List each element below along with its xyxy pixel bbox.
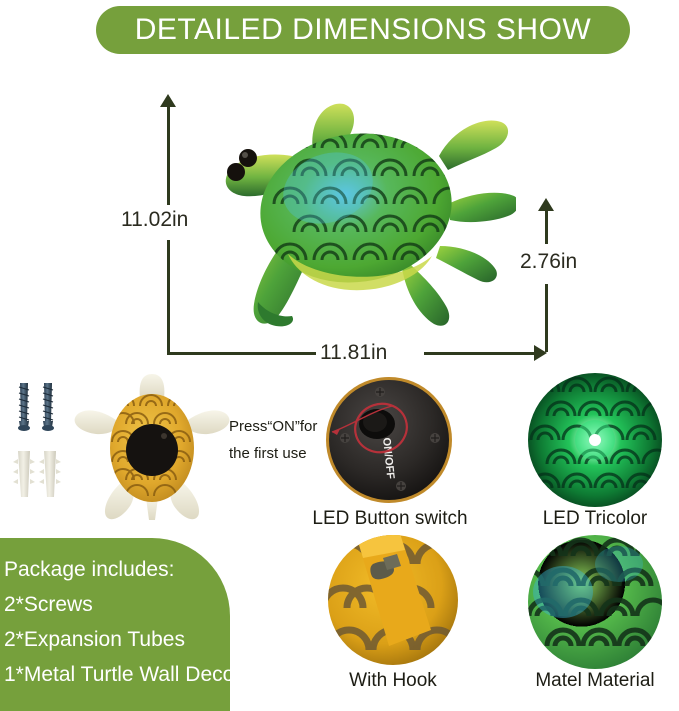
with-hook-photo (327, 534, 459, 666)
page-title: DETAILED DIMENSIONS SHOW (135, 13, 592, 47)
turtle-flipper-upper-right (439, 120, 508, 170)
turtle-eye-left (239, 149, 257, 167)
turtle-eye-right (227, 163, 245, 181)
sea-turtle-front-view (196, 96, 516, 331)
dimension-depth-line-lower (545, 284, 548, 352)
header-banner: DETAILED DIMENSIONS SHOW (96, 6, 630, 54)
dimension-height-line-lower (167, 240, 170, 355)
dimension-depth-line-upper (545, 209, 548, 244)
dimension-width-label: 11.81in (316, 341, 391, 365)
package-title: Package includes: (4, 552, 230, 587)
caption-matel-material: Matel Material (505, 670, 679, 692)
infographic-stage: DETAILED DIMENSIONS SHOW (0, 0, 679, 699)
package-item-2: 1*Metal Turtle Wall Decor (4, 657, 230, 692)
screws-and-expansion-tubes (8, 375, 72, 505)
caption-led-tricolor: LED Tricolor (505, 508, 679, 530)
dimension-width-line-left (168, 352, 318, 355)
screw-1 (18, 383, 30, 431)
dimension-depth-label: 2.76in (516, 250, 581, 274)
arrow-right-icon (534, 345, 547, 361)
expansion-tube-2 (39, 451, 61, 497)
led-tricolor-photo (527, 372, 663, 508)
package-item-0: 2*Screws (4, 587, 230, 622)
sea-turtle-back-view (72, 372, 232, 524)
turtle-eye-highlight (242, 152, 248, 158)
dimension-height-line-upper (167, 105, 170, 205)
callout-leader-line (330, 400, 410, 440)
dimension-width-line-right (424, 352, 534, 355)
package-item-1: 2*Expansion Tubes (4, 622, 230, 657)
package-includes-box: Package includes: 2*Screws 2*Expansion T… (0, 538, 230, 711)
caption-led-button-switch: LED Button switch (300, 508, 480, 530)
led-button-switch-photo: ON/OFF (325, 376, 453, 504)
turtle-flipper-mid-right (448, 193, 516, 222)
back-turtle-housing-screw (161, 433, 167, 439)
caption-with-hook: With Hook (303, 670, 483, 692)
matel-material-photo (527, 534, 663, 670)
back-turtle-battery-housing (126, 424, 178, 476)
turtle-flipper-lower-right (436, 246, 497, 282)
led-core (589, 434, 601, 446)
expansion-tube-1 (13, 451, 35, 497)
dimension-height-label: 11.02in (117, 208, 192, 232)
screw-2 (42, 383, 54, 431)
